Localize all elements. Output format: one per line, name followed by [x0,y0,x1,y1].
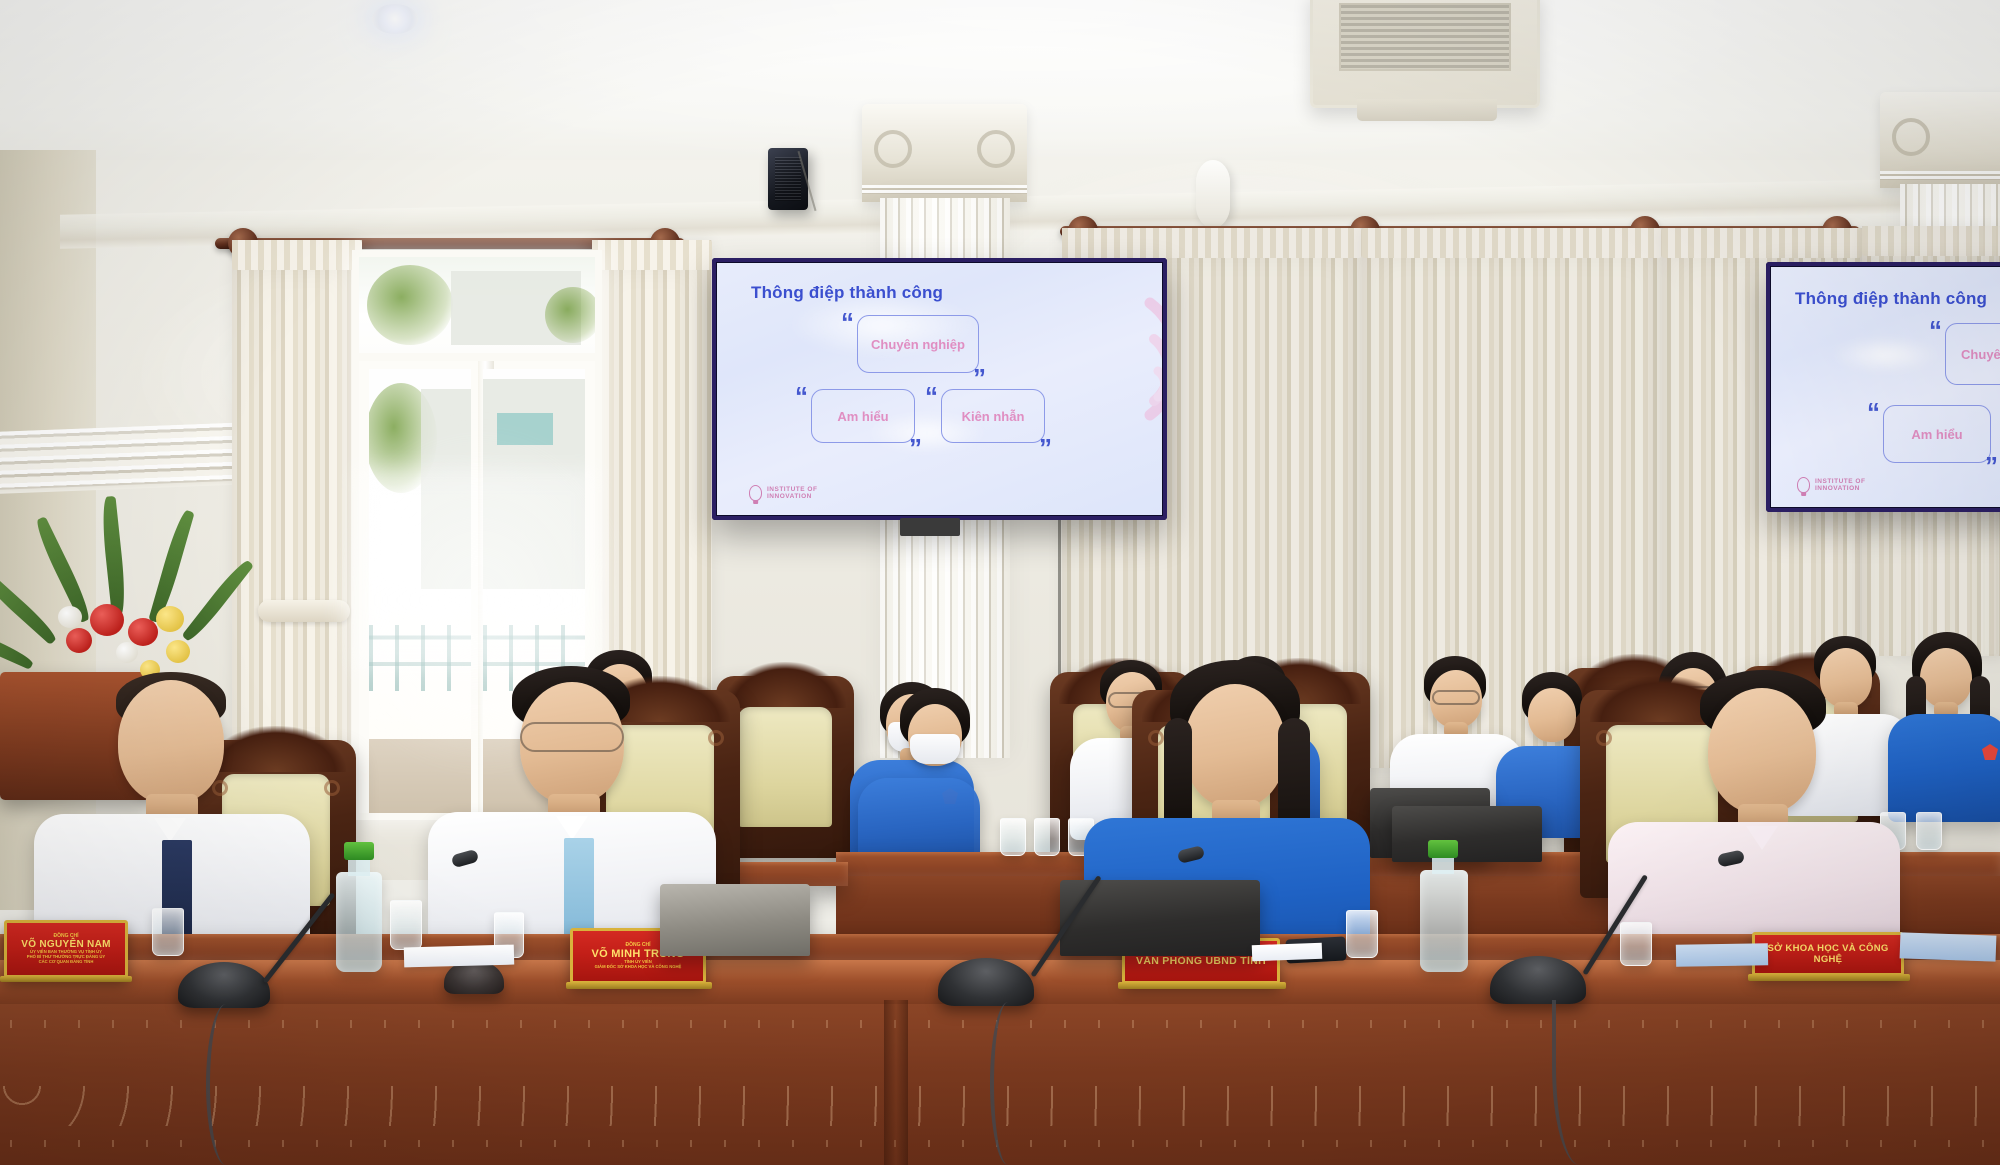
capital-volute-left [874,130,912,168]
institute-logo-text: INSTITUTE OF INNOVATION [767,486,817,500]
document-folder[interactable] [1900,932,1997,961]
exterior-window-teal [497,413,553,445]
plant-leaf [181,557,254,644]
nameplate-3-base [1118,982,1286,989]
exterior-tree [545,287,595,343]
nameplate-4-base [1748,974,1910,981]
flower-yellow [156,606,184,632]
capital-volute-left [1892,118,1930,156]
quote-open-icon: “ [795,389,808,405]
nameplate-4-name: SỞ KHOA HỌC VÀ CÔNG NGHỆ [1759,943,1897,965]
message-box-1: Chuyên nghiệp [857,315,979,373]
drinking-glass[interactable] [390,900,422,950]
shirt-collar [556,816,588,840]
chair-carving [324,780,340,796]
glasses [520,722,624,752]
document-folder[interactable] [1676,943,1768,967]
capital-band [862,185,1027,194]
secondary-display: Thông điệp thành công “ Chuyên nghiệp “ … [1766,262,2000,512]
attendee-back-4 [866,692,1004,868]
institute-logo-text: INSTITUTE OF INNOVATION [1815,478,1865,492]
drinking-glass [1034,818,1060,856]
quote-close-icon: ” [1985,459,1998,475]
message-box-1: Chuyên nghiệp [1945,323,2000,385]
quote-open-icon: “ [1867,405,1880,421]
message-box-2-label: Am hiểu [1911,427,1962,442]
wifi-access-point-icon [1196,160,1230,228]
institute-logo: INSTITUTE OF INNOVATION [1797,477,1865,493]
screen-glare [1831,337,1941,373]
water-bottle[interactable] [1420,870,1468,972]
main-display-screen: Thông điệp thành công “ Chuyên nghiệp ” … [717,263,1162,515]
capital-band [1880,171,2000,180]
laptop[interactable] [660,884,810,956]
document-papers[interactable] [1252,943,1323,961]
water-bottle-cap[interactable] [344,842,374,860]
chair-crest [724,662,845,708]
curtain-header [1062,228,1362,258]
flower-yellow [166,640,190,663]
secondary-display-screen: Thông điệp thành công “ Chuyên nghiệp “ … [1771,267,2000,507]
nameplate-1: ĐỒNG CHÍ VÕ NGUYÊN NAM ỦY VIÊN BAN THƯỜN… [4,920,128,978]
quote-open-icon: “ [925,389,938,405]
document-papers[interactable] [404,945,514,968]
tv-wall-mount [900,518,960,536]
nameplate-1-base [0,976,132,982]
curtain-tieback [258,600,350,622]
shirt-collar [154,818,186,842]
head [118,680,224,804]
quote-open-icon: “ [841,315,854,331]
quote-close-icon: ” [909,441,922,457]
curtain-header [232,240,362,270]
water-bottle[interactable] [336,872,382,972]
message-box-2: Am hiểu [811,389,915,443]
microphone-cable [990,1002,1026,1165]
curtain-header [1362,228,1662,258]
conference-room-photo: Thông điệp thành công “ Chuyên nghiệp ” … [0,0,2000,1165]
table-panel-seam [884,1000,908,1165]
flower-white [116,642,138,663]
chair-cushion [738,707,832,827]
nameplate-3-name: VĂN PHÒNG UBND TỈNH [1136,955,1266,967]
nameplate-4: SỞ KHOA HỌC VÀ CÔNG NGHỆ [1752,932,1904,976]
plant-leaf [100,496,128,617]
column-capital-center [862,104,1027,202]
wall-speaker [768,148,808,210]
nameplate-1-subtitle: ỦY VIÊN BAN THƯỜNG VỤ TỈNH ỦY PHÓ BÍ THƯ… [27,950,105,964]
message-box-1-label: Chuyên nghiệp [1961,347,2000,362]
head [1920,648,1972,708]
quote-close-icon: ” [1039,441,1052,457]
head [1184,684,1286,808]
drinking-glass[interactable] [1346,910,1378,958]
ac-vent-grille [1339,3,1511,71]
ceiling-downlight [372,4,418,34]
head [1528,688,1576,742]
column-capital-right [1880,92,2000,188]
drinking-glass[interactable] [152,908,184,956]
shirt-collar [1746,826,1778,850]
message-box-3-label: Kiên nhẫn [962,409,1025,424]
nameplate-2-subtitle: TỈNH ỦY VIÊN GIÁM ĐỐC SỞ KHOA HỌC VÀ CÔN… [595,960,682,969]
main-display: Thông điệp thành công “ Chuyên nghiệp ” … [712,258,1167,520]
nameplate-2-base [566,982,712,989]
slide-title: Thông điệp thành công [1795,289,1987,309]
curtain-header [1862,226,2000,256]
flower-red [66,628,92,653]
institute-logo-line2: INNOVATION [767,493,817,500]
slide-title: Thông điệp thành công [751,283,943,303]
institute-logo-line1: INSTITUTE OF [1815,478,1865,485]
message-box-1-label: Chuyên nghiệp [871,337,965,352]
drinking-glass[interactable] [1620,922,1652,966]
quote-open-icon: “ [1929,323,1942,339]
quote-close-icon: ” [973,371,986,387]
ceiling-ac-vent [1310,0,1540,108]
glasses [1432,690,1480,705]
flower-red [90,604,124,636]
curtain-header [592,240,712,270]
institute-logo-line1: INSTITUTE OF [767,486,817,493]
lightbulb-icon [1797,477,1810,493]
water-bottle-cap[interactable] [1428,840,1458,858]
head [1708,688,1816,814]
door-light-glare [356,470,596,670]
message-box-2: Am hiểu [1883,405,1991,463]
capital-volute-right [977,130,1015,168]
flower-arrangement [40,500,260,700]
institute-logo: INSTITUTE OF INNOVATION [749,485,817,501]
exterior-tree [367,265,453,345]
door-transom-window [359,257,595,361]
ac-vent-lip [1357,99,1497,121]
message-box-2-label: Am hiểu [837,409,888,424]
curtain-header [1662,228,1862,258]
drinking-glass [1000,818,1026,856]
flower-white [58,606,82,628]
laptop[interactable] [1392,806,1542,862]
flower-red [128,618,158,646]
message-box-3: Kiên nhẫn [941,389,1045,443]
institute-logo-line2: INNOVATION [1815,485,1865,492]
lightbulb-icon [749,485,762,501]
face-mask [910,734,960,764]
microphone-cable [206,1004,246,1165]
drinking-glass [1916,812,1942,850]
